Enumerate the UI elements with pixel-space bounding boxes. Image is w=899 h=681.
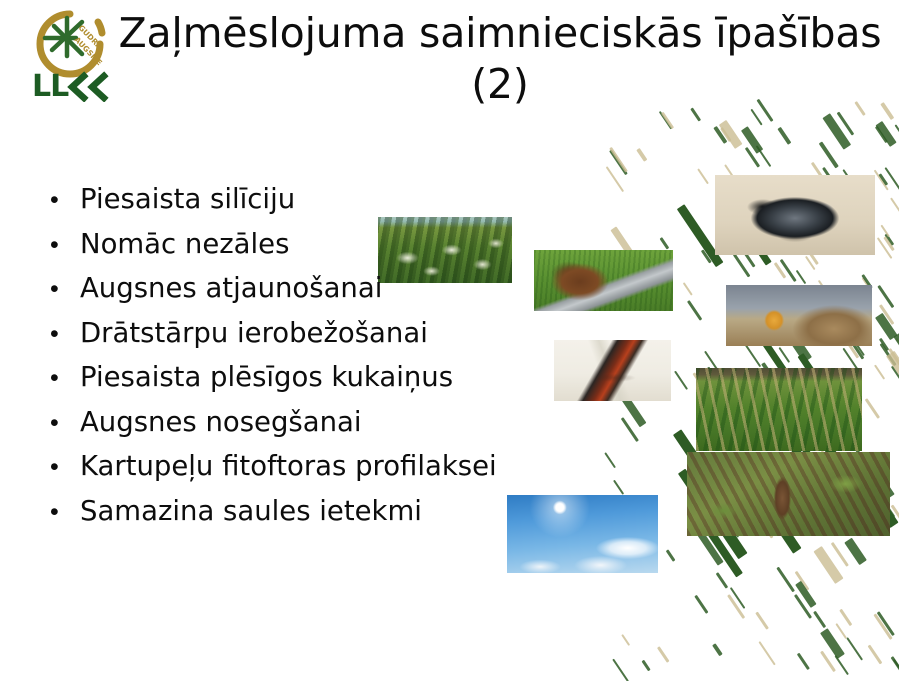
decorative-dash <box>878 285 895 308</box>
decorative-dash <box>756 146 772 168</box>
decorative-dash <box>820 629 845 660</box>
decorative-dash <box>732 254 750 278</box>
llkk-logo: GUDRA AUGSME LL <box>24 6 116 102</box>
decorative-dash <box>880 343 897 366</box>
decorative-dash <box>694 594 708 613</box>
decorative-dash <box>657 647 670 664</box>
decorative-dash <box>831 542 849 567</box>
bullet-marker-icon: • <box>50 322 80 347</box>
decorative-dash <box>659 111 672 129</box>
decorative-dash <box>813 611 826 629</box>
slide-title: Zaļmēslojuma saimnieciskās īpašības (2) <box>105 8 895 110</box>
photo-silicon-rock <box>715 175 875 255</box>
decorative-dash <box>741 126 764 154</box>
decorative-dash <box>609 146 628 172</box>
decorative-dash <box>711 537 721 551</box>
decorative-dash <box>642 659 651 671</box>
decorative-dash <box>886 351 899 395</box>
decorative-dash <box>875 312 897 339</box>
decorative-dash <box>696 169 708 185</box>
decorative-dash <box>891 366 899 389</box>
decorative-dash <box>796 581 817 608</box>
decorative-dash <box>780 258 797 282</box>
bullet-marker-icon: • <box>50 455 80 480</box>
bullet-marker-icon: • <box>50 411 80 436</box>
decorative-dash <box>714 126 728 144</box>
list-item-label: Augsnes atjaunošanai <box>80 275 382 303</box>
slide-title-line-1: Zaļmēslojuma saimnieciskās īpašības <box>105 8 895 59</box>
decorative-dash <box>879 338 889 351</box>
decorative-dash <box>612 658 629 681</box>
decorative-dash <box>621 634 630 646</box>
decorative-dash <box>720 127 731 142</box>
bullet-marker-icon: • <box>50 366 80 391</box>
photo-wireworm-image <box>726 285 872 346</box>
list-item: •Augsnes nosegšanai <box>50 409 650 454</box>
decorative-dash <box>778 347 790 364</box>
list-item: •Drātstārpu ierobežošanai <box>50 320 650 365</box>
decorative-dash <box>690 108 701 122</box>
logo-wordmark: LL <box>32 69 69 102</box>
decorative-dash <box>797 653 810 670</box>
photo-cover-crop-field-image <box>696 368 862 451</box>
bullet-marker-icon: • <box>50 277 80 302</box>
decorative-dash <box>814 546 844 584</box>
decorative-dash <box>885 234 894 246</box>
decorative-dash <box>873 170 889 191</box>
decorative-dash <box>819 141 839 168</box>
list-item: •Nomāc nezāles <box>50 231 650 276</box>
list-item-label: Piesaista plēsīgos kukaiņus <box>80 364 453 392</box>
bullet-marker-icon: • <box>50 500 80 525</box>
list-item-label: Drātstārpu ierobežošanai <box>80 320 428 348</box>
decorative-dash <box>880 224 890 237</box>
decorative-dash <box>893 659 899 681</box>
decorative-dash <box>820 651 836 673</box>
decorative-dash <box>610 150 629 176</box>
bullet-list: •Piesaista silīciju•Nomāc nezāles•Augsne… <box>50 186 650 542</box>
decorative-dash <box>719 120 743 149</box>
decorative-dash <box>891 656 899 676</box>
decorative-dash <box>774 262 787 279</box>
decorative-dash <box>726 594 744 619</box>
slide-title-line-2: (2) <box>105 59 895 110</box>
decorative-dash <box>868 645 883 665</box>
decorative-dash <box>875 125 888 142</box>
decorative-dash <box>758 641 775 665</box>
decorative-dash <box>891 504 899 528</box>
decorative-dash <box>777 127 791 145</box>
decorative-dash <box>877 611 895 635</box>
decorative-dash <box>755 612 769 630</box>
decorative-dash <box>729 587 745 609</box>
bullet-marker-icon: • <box>50 233 80 258</box>
photo-wireworm <box>726 285 872 346</box>
decorative-dash <box>745 146 760 167</box>
decorative-dash <box>794 571 809 591</box>
list-item-label: Kartupeļu fitoftoras profilaksei <box>80 453 497 481</box>
decorative-dash <box>844 537 867 565</box>
decorative-dash <box>660 112 673 129</box>
decorative-dash <box>713 643 723 656</box>
decorative-dash <box>716 572 728 589</box>
decorative-dash <box>875 121 896 147</box>
decorative-dash <box>836 112 853 136</box>
photo-potato-blight <box>687 452 890 536</box>
photo-potato-blight-image <box>687 452 890 536</box>
list-item: •Piesaista plēsīgos kukaiņus <box>50 364 650 409</box>
decorative-dash <box>683 282 694 296</box>
list-item-label: Nomāc nezāles <box>80 231 289 259</box>
logo-ring-arc-2 <box>98 22 102 33</box>
decorative-dash <box>895 124 899 138</box>
decorative-dash <box>701 249 711 263</box>
decorative-dash <box>637 148 648 162</box>
decorative-dash <box>666 549 676 562</box>
logo-graphic: GUDRA AUGSME LL <box>24 6 116 102</box>
decorative-dash <box>838 609 852 627</box>
decorative-dash <box>890 198 899 217</box>
decorative-dash <box>822 113 850 149</box>
decorative-dash <box>876 238 892 260</box>
decorative-dash <box>673 371 687 390</box>
decorative-dash <box>687 300 703 321</box>
decorative-dash <box>835 623 847 639</box>
list-item: •Augsnes atjaunošanai <box>50 275 650 320</box>
decorative-dash <box>846 638 863 662</box>
decorative-dash <box>878 305 894 326</box>
list-item: •Piesaista silīciju <box>50 186 650 231</box>
decorative-dash <box>796 270 807 284</box>
decorative-dash <box>895 337 899 361</box>
list-item: •Kartupeļu fitoftoras profilaksei <box>50 453 650 498</box>
decorative-dash <box>751 108 763 125</box>
decorative-dash <box>884 167 899 191</box>
bullet-marker-icon: • <box>50 188 80 213</box>
decorative-dash <box>834 655 849 675</box>
decorative-dash <box>794 594 812 619</box>
decorative-dash <box>883 236 894 251</box>
decorative-dash <box>888 348 899 367</box>
decorative-dash <box>660 237 670 249</box>
list-item-label: Piesaista silīciju <box>80 186 295 214</box>
decorative-dash <box>874 365 885 380</box>
decorative-dash <box>894 332 899 379</box>
photo-silicon-rock-image <box>715 175 875 255</box>
list-item: •Samazina saules ietekmi <box>50 498 650 543</box>
list-item-label: Samazina saules ietekmi <box>80 498 422 526</box>
decorative-dash <box>878 174 887 186</box>
decorative-dash <box>873 613 892 639</box>
decorative-dash <box>865 398 880 419</box>
presentation-slide: GUDRA AUGSME LL Zaļmēslojuma saimniecisk… <box>0 0 899 681</box>
logo-chevrons <box>72 76 104 98</box>
decorative-dash <box>776 567 795 593</box>
decorative-dash <box>805 256 816 271</box>
photo-cover-crop-field <box>696 368 862 451</box>
list-item-label: Augsnes nosegšanai <box>80 409 362 437</box>
